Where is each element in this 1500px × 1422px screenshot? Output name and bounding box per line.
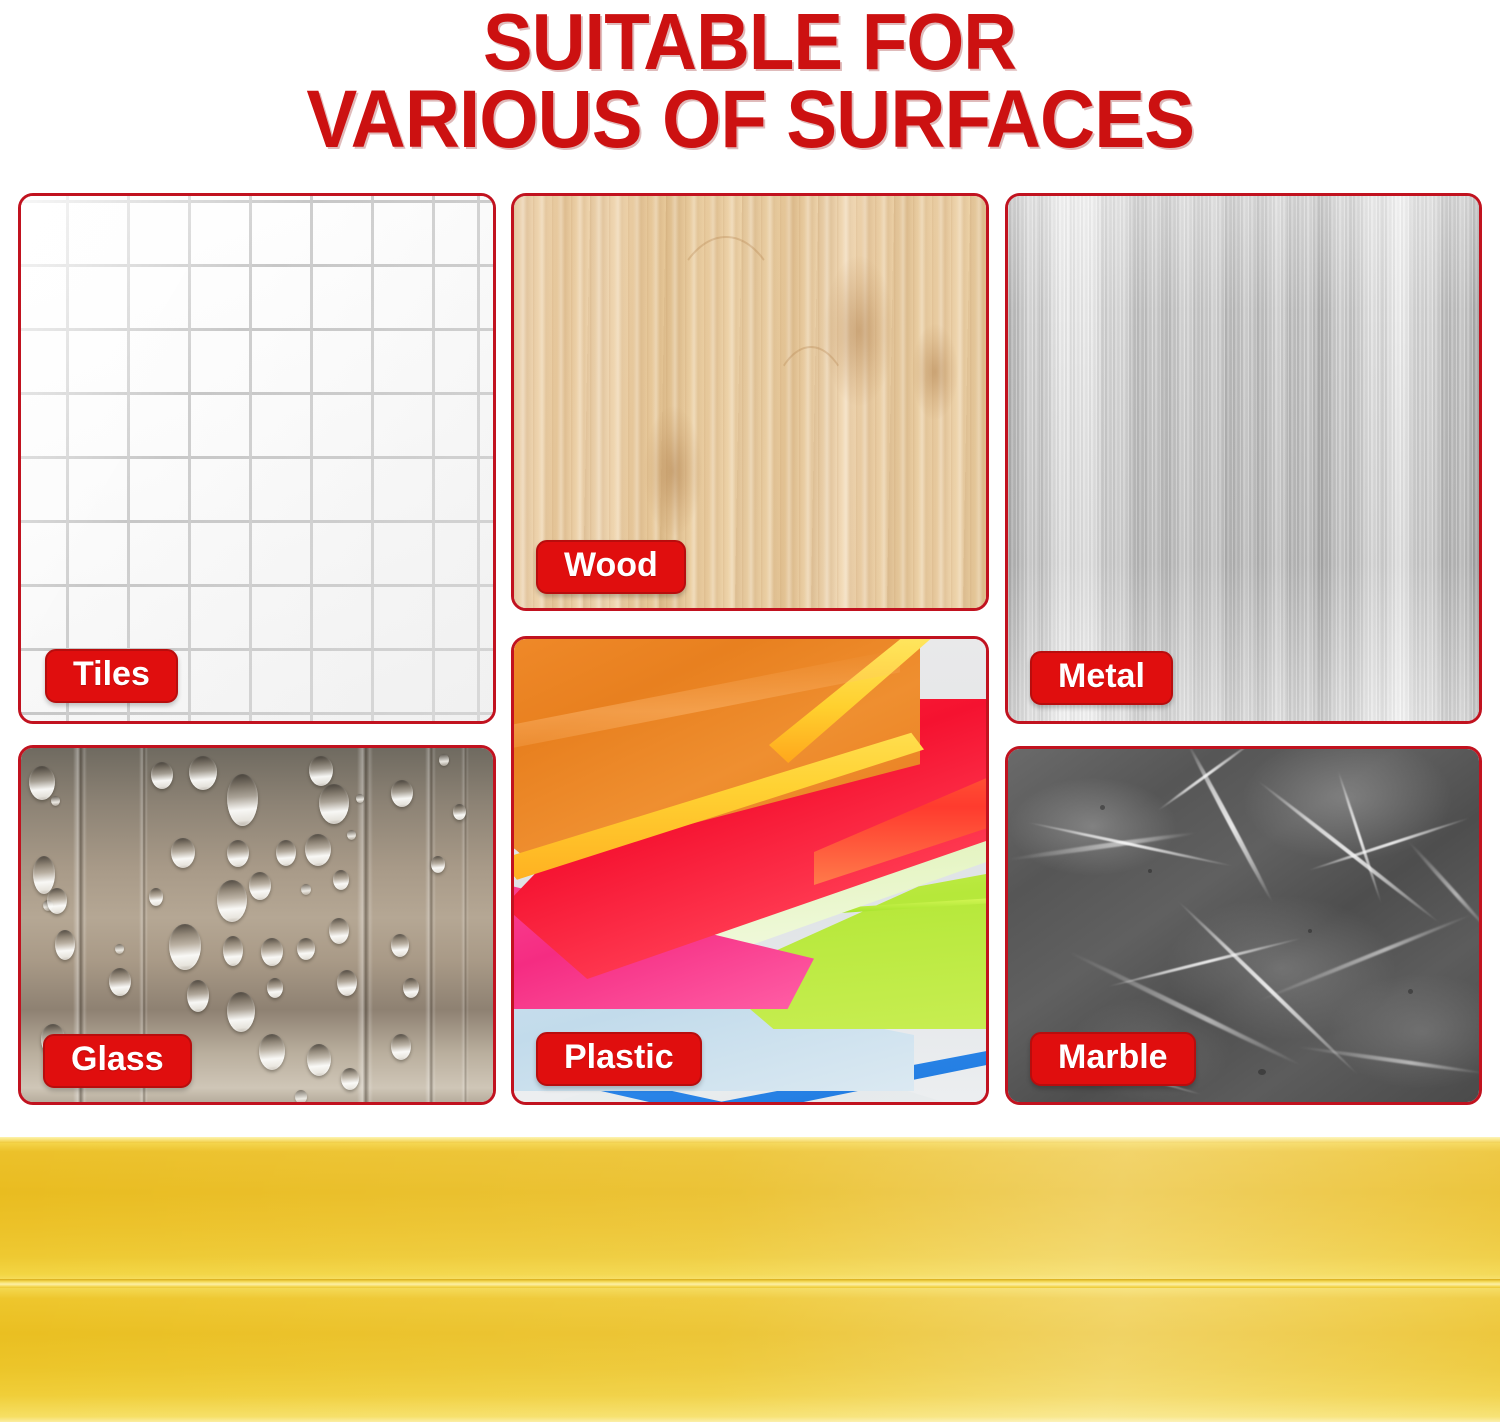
marble-speck bbox=[1148, 869, 1152, 873]
surface-label-tiles: Tiles bbox=[45, 649, 178, 703]
glass-streak bbox=[461, 748, 469, 1102]
surface-card-plastic[interactable]: Plastic bbox=[511, 636, 989, 1105]
metal-vertical-shading bbox=[1008, 196, 1479, 721]
yellow-blade-gloss bbox=[0, 1288, 1500, 1422]
surface-card-wood[interactable]: Wood bbox=[511, 193, 989, 611]
surface-card-tiles[interactable]: Tiles bbox=[18, 193, 496, 724]
yellow-blade-upper bbox=[0, 1137, 1500, 1283]
yellow-blade-lower bbox=[0, 1288, 1500, 1422]
tiles-texture bbox=[21, 196, 493, 721]
surface-label-wood: Wood bbox=[536, 540, 686, 594]
glass-streak bbox=[425, 748, 436, 1102]
marble-speck bbox=[1308, 929, 1312, 933]
marble-speck bbox=[1258, 1069, 1266, 1075]
surface-label-marble: Marble bbox=[1030, 1032, 1196, 1086]
surface-card-marble[interactable]: Marble bbox=[1005, 746, 1482, 1105]
marble-speck bbox=[1408, 989, 1413, 994]
surface-label-plastic: Plastic bbox=[536, 1032, 702, 1086]
marble-speck bbox=[1100, 805, 1105, 810]
surface-card-metal[interactable]: Metal bbox=[1005, 193, 1482, 724]
yellow-blade-gloss bbox=[0, 1137, 1500, 1283]
wood-knot-icon bbox=[912, 324, 958, 420]
surface-card-glass[interactable]: Glass bbox=[18, 745, 496, 1105]
surface-label-glass: Glass bbox=[43, 1034, 192, 1088]
wood-grain-arc bbox=[764, 346, 858, 540]
surface-label-metal: Metal bbox=[1030, 651, 1173, 705]
